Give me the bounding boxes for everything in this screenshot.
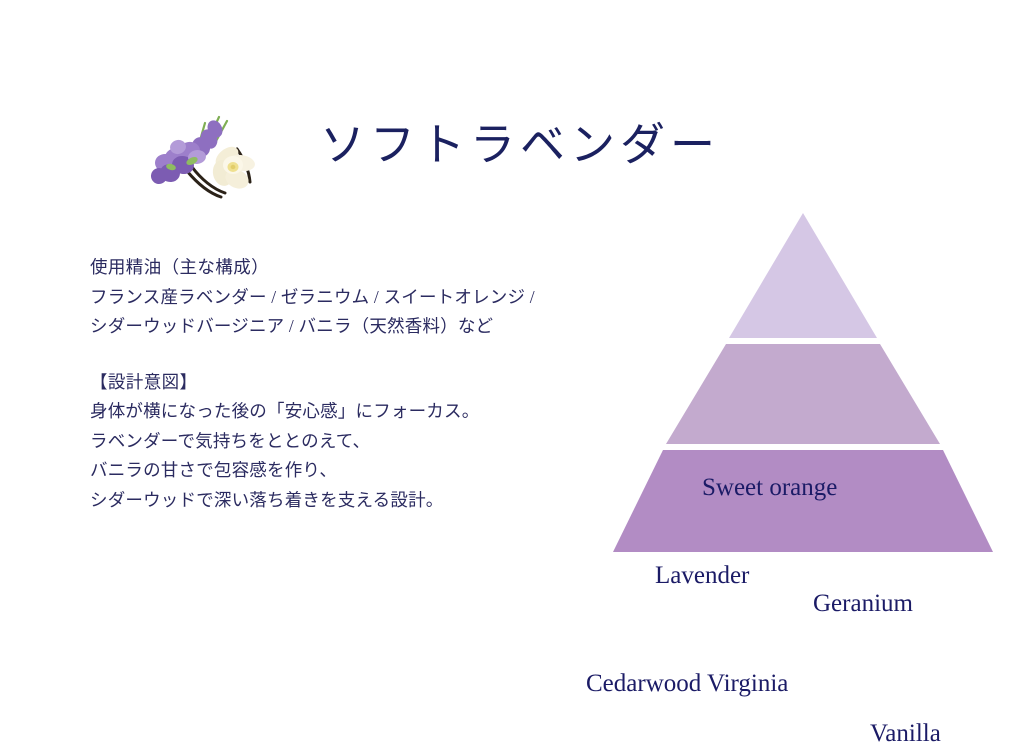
description-column: 使用精油（主な構成） フランス産ラベンダー / ゼラニウム / スイートオレンジ…: [90, 253, 610, 515]
pyramid-label-geranium: Geranium: [813, 589, 913, 619]
pyramid-tier-middle: [666, 344, 940, 444]
page-title: ソフトラベンダー: [320, 114, 720, 176]
pyramid-tier-top: [729, 213, 877, 338]
essential-oils-line-1: フランス産ラベンダー / ゼラニウム / スイートオレンジ /: [90, 283, 610, 313]
essential-oils-block: 使用精油（主な構成） フランス産ラベンダー / ゼラニウム / スイートオレンジ…: [90, 253, 610, 342]
design-intent-block: 【設計意図】 身体が横になった後の「安心感」にフォーカス。 ラベンダーで気持ちを…: [90, 368, 610, 516]
pyramid-label-lavender: Lavender: [655, 561, 749, 591]
title-block: ソフトラベンダー: [140, 100, 760, 205]
essential-oils-heading: 使用精油（主な構成）: [90, 253, 610, 283]
design-intent-line-1: 身体が横になった後の「安心感」にフォーカス。: [90, 397, 610, 427]
design-intent-line-3: バニラの甘さで包容感を作り、: [90, 456, 610, 486]
lavender-vanilla-bouquet-icon: [145, 105, 263, 203]
pyramid-label-sweet-orange: Sweet orange: [702, 473, 837, 503]
fragrance-pyramid: Sweet orange Lavender Geranium Cedarwood…: [560, 205, 1020, 565]
pyramid-label-vanilla: Vanilla: [870, 719, 941, 749]
design-intent-line-2: ラベンダーで気持ちをととのえて、: [90, 427, 610, 457]
design-intent-heading: 【設計意図】: [90, 368, 610, 398]
essential-oils-line-2: シダーウッドバージニア / バニラ（天然香料）など: [90, 312, 610, 342]
pyramid-label-cedarwood-virginia: Cedarwood Virginia: [586, 669, 788, 699]
design-intent-line-4: シダーウッドで深い落ち着きを支える設計。: [90, 486, 610, 516]
pyramid-shape: [560, 205, 1020, 565]
